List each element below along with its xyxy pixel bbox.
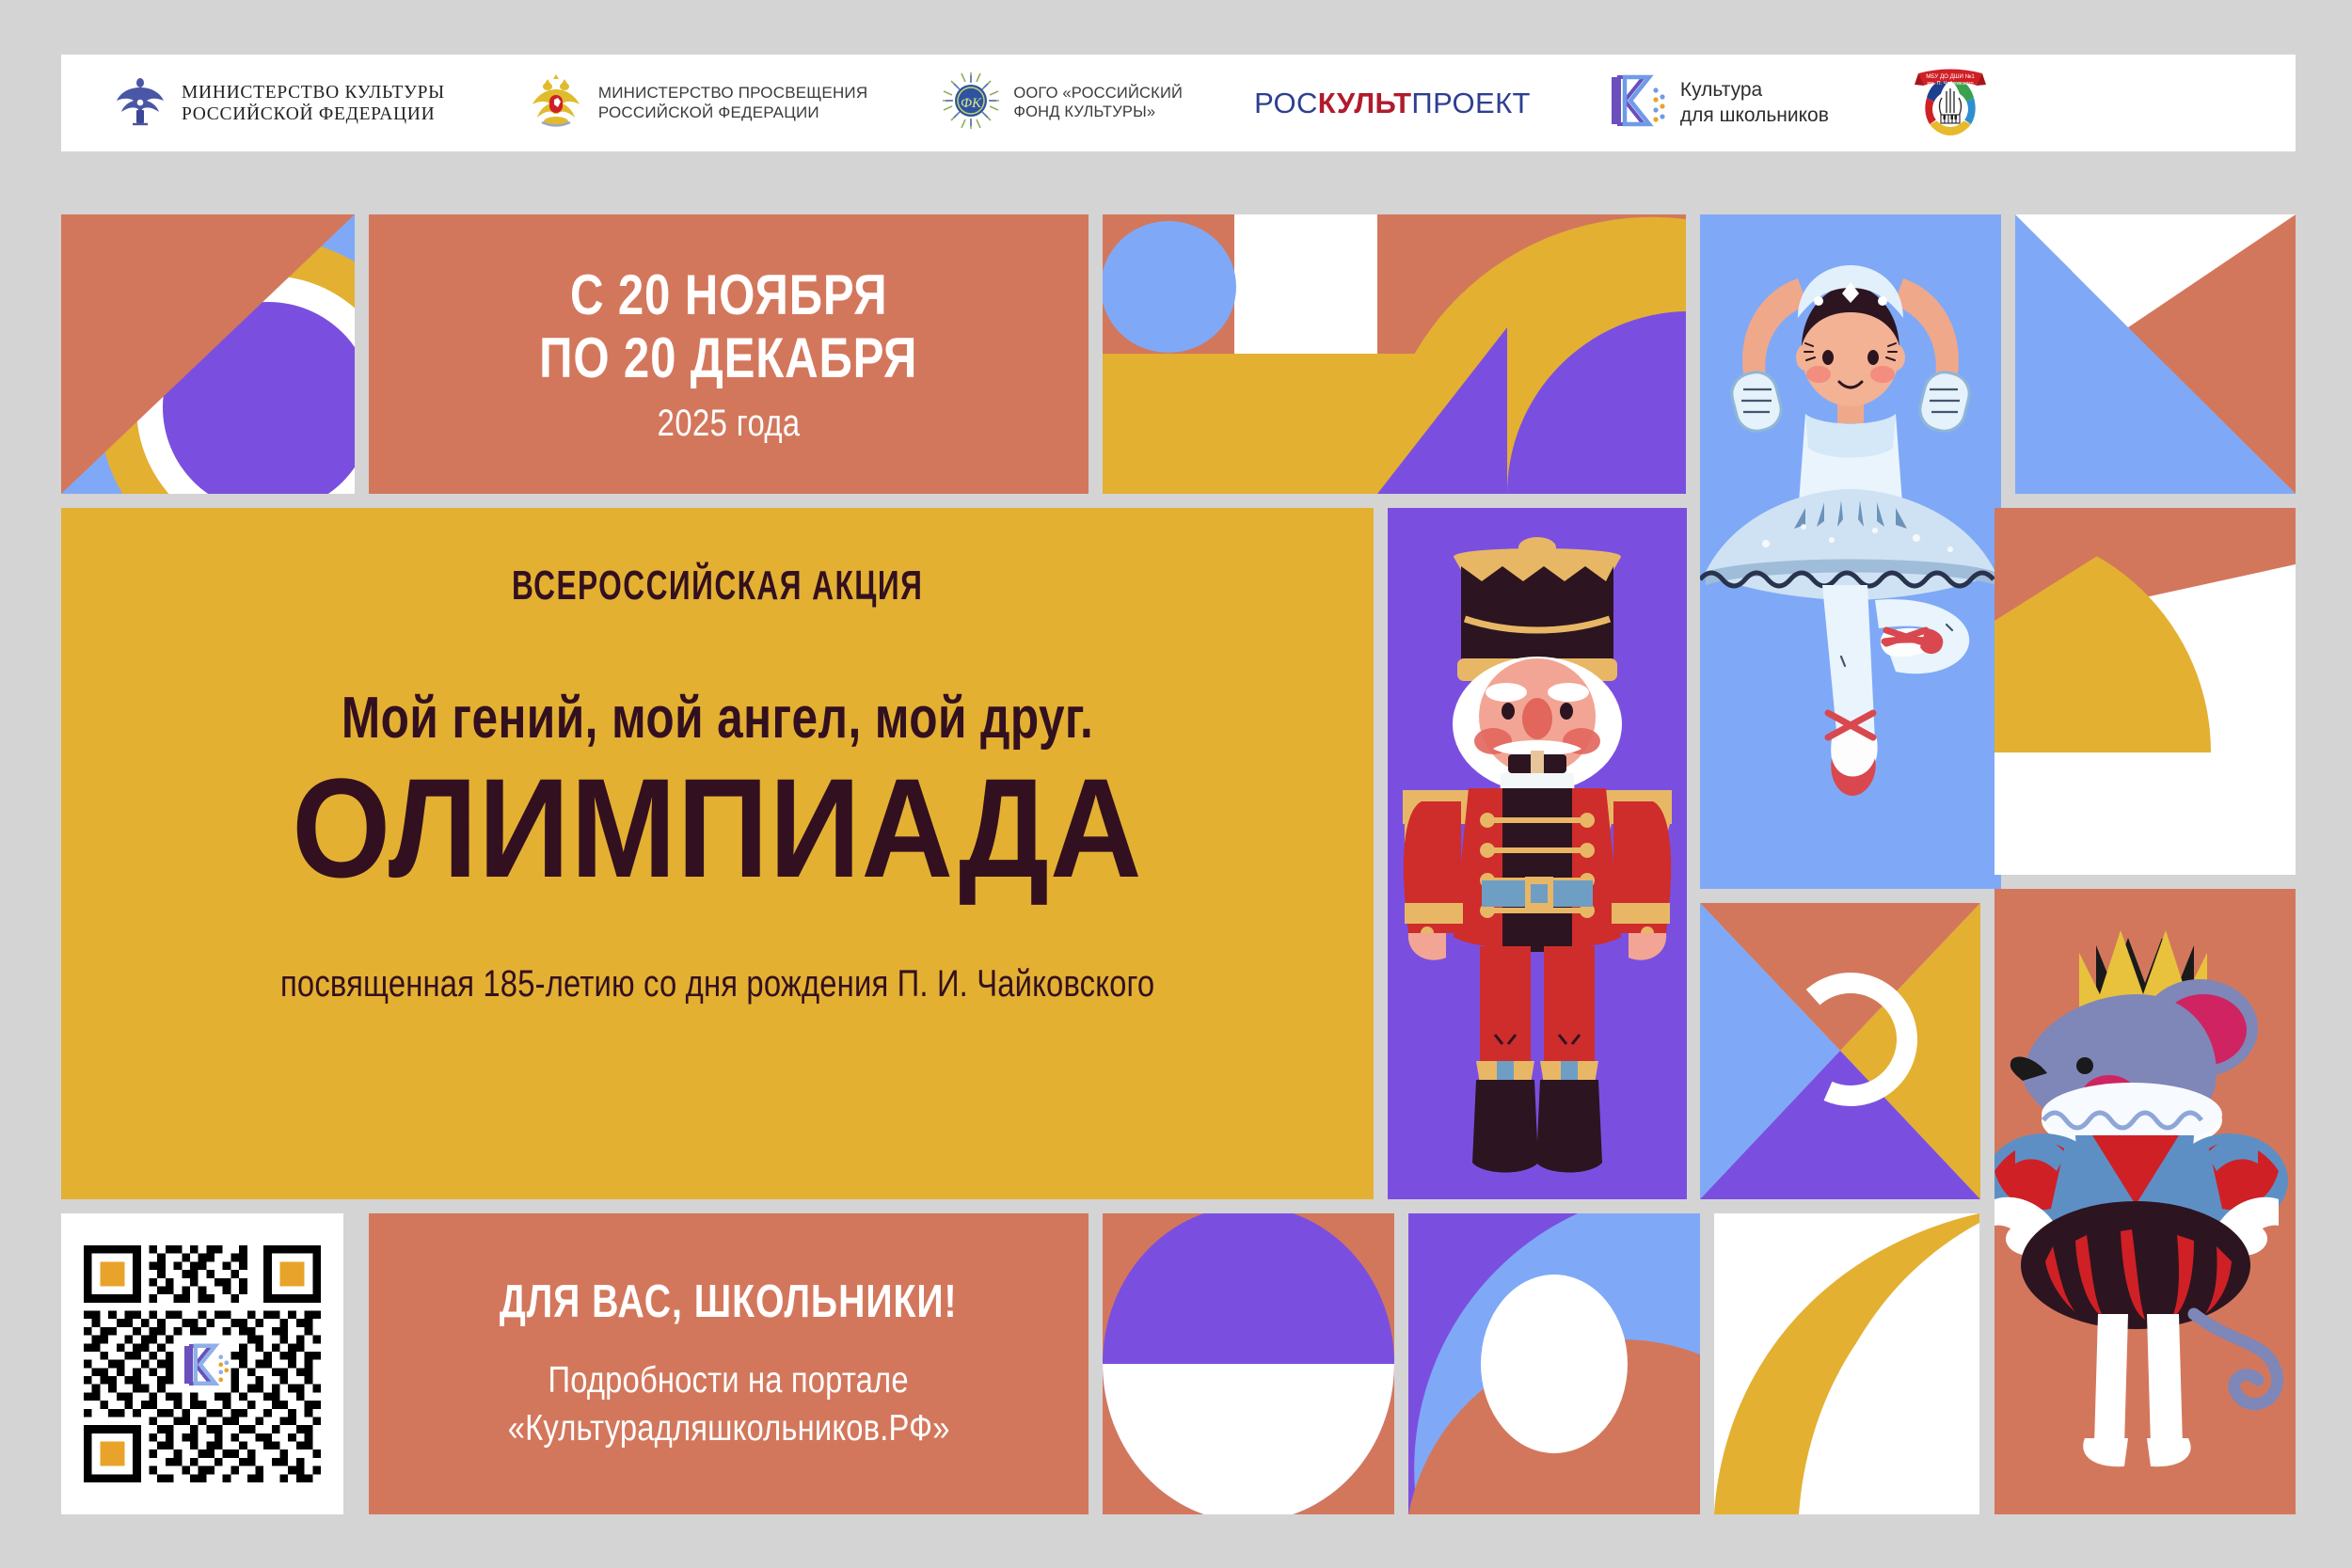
logo-russian-culture-fund: ФК ООГО «РОССИЙСКИЙ ФОНД КУЛЬТУРЫ» <box>941 71 1183 135</box>
cta-line-1: Подробности на портале <box>548 1356 909 1404</box>
logo-ministry-of-education: МИНИСТЕРСТВО ПРОСВЕЩЕНИЯ РОССИЙСКОЙ ФЕДЕ… <box>526 71 868 135</box>
decor-crossed-triangles-ring <box>1700 903 1980 1199</box>
main-text-block: ВСЕРОССИЙСКАЯ АКЦИЯ Мой гений, мой ангел… <box>61 508 1374 1199</box>
date-block: С 20 НОЯБРЯ ПО 20 ДЕКАБРЯ 2025 года <box>369 214 1089 494</box>
header-logo-bar: МИНИСТЕРСТВО КУЛЬТУРЫ РОССИЙСКОЙ ФЕДЕРАЦ… <box>61 55 2296 151</box>
date-year: 2025 года <box>658 403 801 445</box>
cta-line-2: «Культурадляшкольников.РФ» <box>508 1404 950 1452</box>
logo-culture-for-schoolchildren-label: Культура для школьников <box>1680 78 1829 128</box>
russian-state-eagle-emblem-icon <box>526 71 586 135</box>
book-bracket-dots-logo-icon <box>1606 71 1668 135</box>
dedication-text: посвященная 185-летию со дня рождения П.… <box>280 963 1154 1006</box>
decor-quarter-arc-top-left <box>61 214 355 494</box>
decor-half-circles-bottom <box>1103 1213 1394 1514</box>
date-line-1: С 20 НОЯБРЯ <box>570 263 887 326</box>
decor-circle-square-top-middle <box>1103 214 1686 494</box>
svg-text:им. П. Чайковского: им. П. Чайковского <box>1927 80 1973 87</box>
svg-text:ФК: ФК <box>961 96 982 111</box>
poster-root: МИНИСТЕРСТВО КУЛЬТУРЫ РОССИЙСКОЙ ФЕДЕРАЦ… <box>0 0 2352 1568</box>
cta-block: ДЛЯ ВАС, ШКОЛЬНИКИ! Подробности на порта… <box>369 1213 1089 1514</box>
subtitle-text: Мой гений, мой ангел, мой друг. <box>342 685 1093 752</box>
logo-roskultproekt-wordmark: РОСКУЛЬТПРОЕКТ <box>1254 87 1531 120</box>
nutcracker-illustration <box>1388 508 1687 1199</box>
date-line-2: ПО 20 ДЕКАБРЯ <box>539 326 917 389</box>
double-headed-eagle-lyre-emblem-icon <box>111 71 169 135</box>
kicker-text: ВСЕРОССИЙСКАЯ АКЦИЯ <box>512 562 923 610</box>
logo-ministry-of-education-label: МИНИСТЕРСТВО ПРОСВЕЩЕНИЯ РОССИЙСКОЙ ФЕДЕ… <box>598 84 868 121</box>
logo-roskultproekt: РОСКУЛЬТПРОЕКТ <box>1254 87 1531 120</box>
decor-triangle-top-far-right <box>2015 214 2296 494</box>
decor-leaf-bottom-right <box>1714 1213 1979 1514</box>
decor-oval-bottom-middle <box>1408 1213 1700 1514</box>
logo-ministry-of-culture-label: МИНИСТЕРСТВО КУЛЬТУРЫ РОССИЙСКОЙ ФЕДЕРАЦ… <box>182 82 445 125</box>
roskult-part-3: ПРОЕКТ <box>1411 87 1530 119</box>
qr-code-matrix <box>84 1245 321 1482</box>
roskult-part-1: РОС <box>1254 87 1318 119</box>
cta-heading: ДЛЯ ВАС, ШКОЛЬНИКИ! <box>500 1275 958 1328</box>
logo-ministry-of-culture: МИНИСТЕРСТВО КУЛЬТУРЫ РОССИЙСКОЙ ФЕДЕРАЦ… <box>111 71 445 135</box>
mouse-king-illustration <box>1994 889 2296 1514</box>
logo-russian-culture-fund-label: ООГО «РОССИЙСКИЙ ФОНД КУЛЬТУРЫ» <box>1013 85 1183 121</box>
roskult-part-2: КУЛЬТ <box>1318 87 1412 119</box>
ballerina-illustration <box>1700 214 2001 889</box>
page-title: ОЛИМПИАДА <box>292 761 1142 895</box>
svg-text:МБУ ДО ДШИ №1: МБУ ДО ДШИ №1 <box>1926 73 1975 80</box>
lyre-piano-ribbon-emblem-icon: МБУ ДО ДШИ №1 им. П. Чайковского <box>1910 60 1991 146</box>
decor-quarter-disc-right <box>1994 508 2296 875</box>
sunburst-monogram-emblem-icon: ФК <box>941 71 1001 135</box>
logo-culture-for-schoolchildren: Культура для школьников <box>1606 71 1829 135</box>
logo-music-school-tchaikovsky: МБУ ДО ДШИ №1 им. П. Чайковского <box>1910 60 1991 146</box>
qr-code-culture-portal[interactable] <box>61 1213 343 1514</box>
